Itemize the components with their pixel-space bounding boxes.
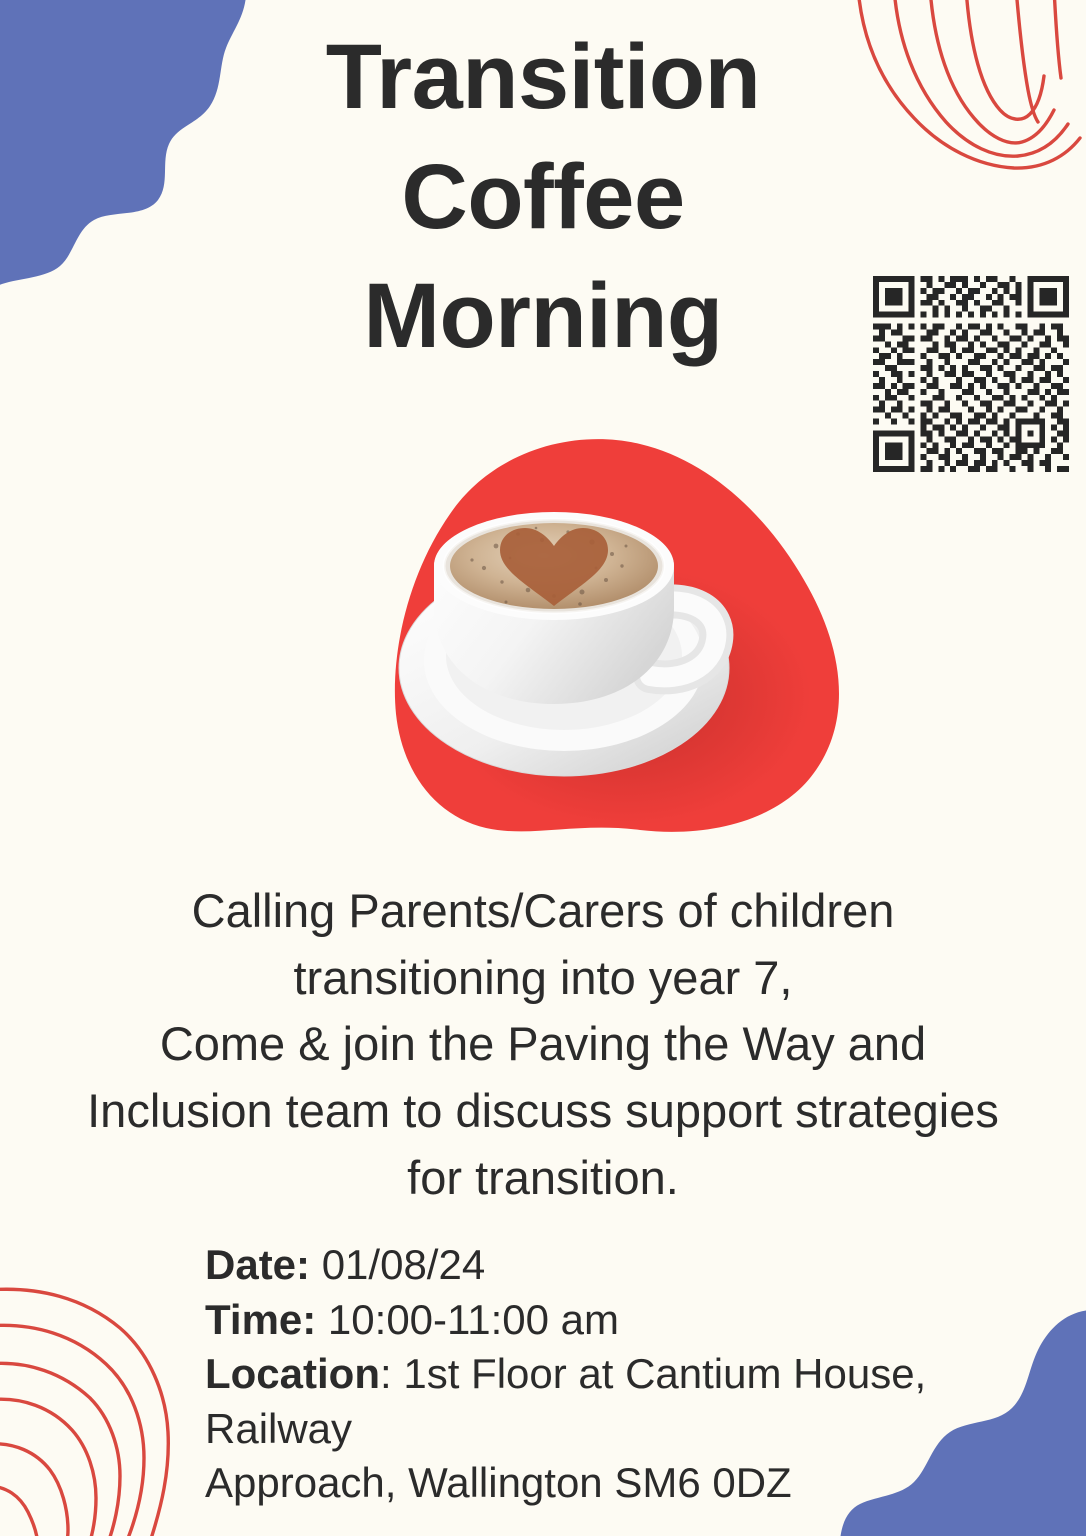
detail-row-date: Date: 01/08/24 <box>205 1238 1045 1293</box>
event-details: Date: 01/08/24 Time: 10:00-11:00 am Loca… <box>205 1238 1045 1511</box>
body-line-1: Calling Parents/Carers of children <box>0 878 1086 945</box>
body-line-2: transitioning into year 7, <box>0 945 1086 1012</box>
body-line-4: Inclusion team to discuss support strate… <box>0 1078 1086 1145</box>
time-label: Time: <box>205 1296 316 1343</box>
body-line-5: for transition. <box>0 1145 1086 1212</box>
date-value: 01/08/24 <box>310 1241 485 1288</box>
address-continued: Approach, Wallington SM6 0DZ <box>205 1456 1045 1511</box>
coffee-cup-icon <box>296 418 866 858</box>
body-line-3: Come & join the Paving the Way and <box>0 1011 1086 1078</box>
detail-row-location: Location: 1st Floor at Cantium House, Ra… <box>205 1347 1045 1456</box>
detail-row-time: Time: 10:00-11:00 am <box>205 1293 1045 1348</box>
title-line-2: Coffee <box>0 138 1086 258</box>
location-label: Location <box>205 1350 380 1397</box>
time-value: 10:00-11:00 am <box>316 1296 619 1343</box>
poster-canvas: Transition Coffee Morning <box>0 0 1086 1536</box>
date-label: Date: <box>205 1241 310 1288</box>
title-line-1: Transition <box>0 18 1086 138</box>
qr-code-icon[interactable] <box>873 273 1069 475</box>
body-copy: Calling Parents/Carers of children trans… <box>0 878 1086 1212</box>
